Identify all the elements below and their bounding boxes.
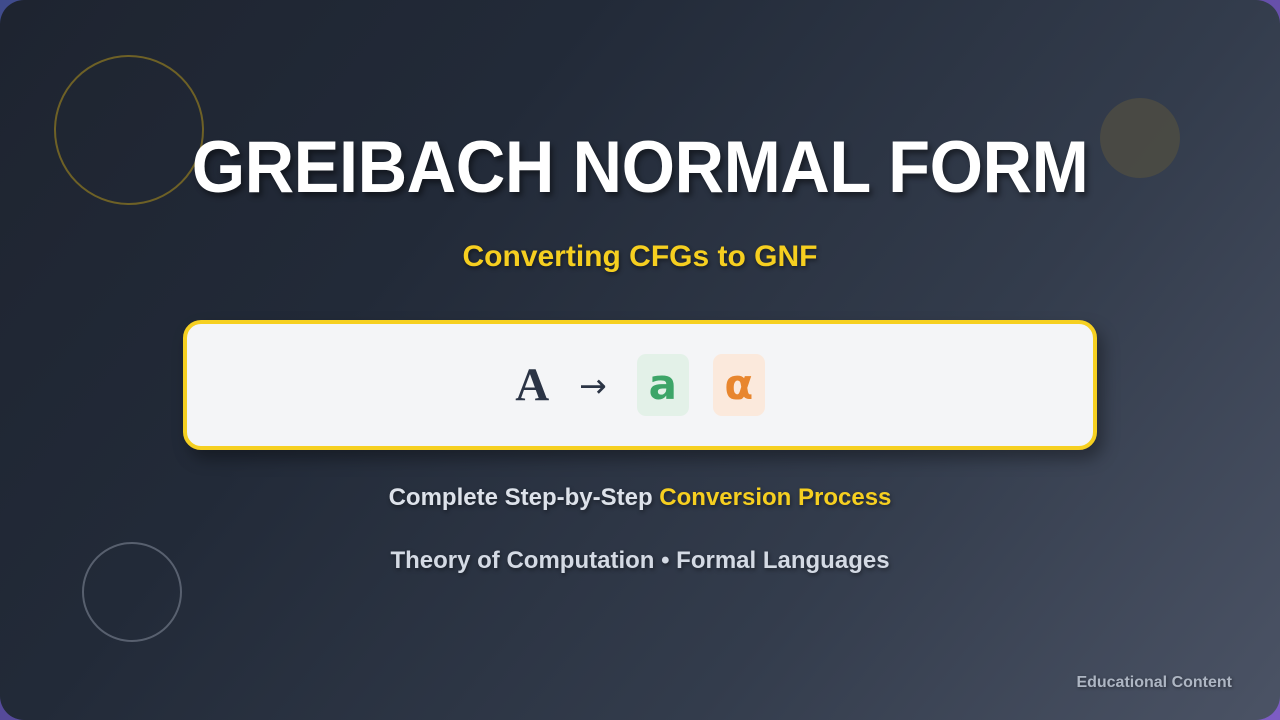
slide-backdrop: GREIBACH NORMAL FORM Converting CFGs to … bbox=[0, 0, 1280, 720]
formula-card: A → a α bbox=[183, 320, 1097, 450]
slide-subtitle: Converting CFGs to GNF bbox=[0, 240, 1280, 274]
right-arrow-icon: → bbox=[575, 369, 611, 402]
slide-tagline: Complete Step-by-Step Conversion Process bbox=[0, 484, 1280, 512]
tagline-lead: Complete Step-by-Step bbox=[389, 484, 660, 511]
formula-terminal-tile: a bbox=[637, 354, 689, 416]
slide-title: GREIBACH NORMAL FORM bbox=[38, 126, 1241, 209]
formula-variables-tile: α bbox=[713, 354, 765, 416]
slide-content: GREIBACH NORMAL FORM Converting CFGs to … bbox=[0, 0, 1280, 720]
tagline-accent: Conversion Process bbox=[659, 484, 891, 511]
footer-label: Educational Content bbox=[1076, 674, 1232, 692]
slide-meta-line: Theory of Computation • Formal Languages bbox=[0, 547, 1280, 575]
presentation-slide: GREIBACH NORMAL FORM Converting CFGs to … bbox=[0, 0, 1280, 720]
formula-nonterminal: A bbox=[515, 362, 549, 409]
